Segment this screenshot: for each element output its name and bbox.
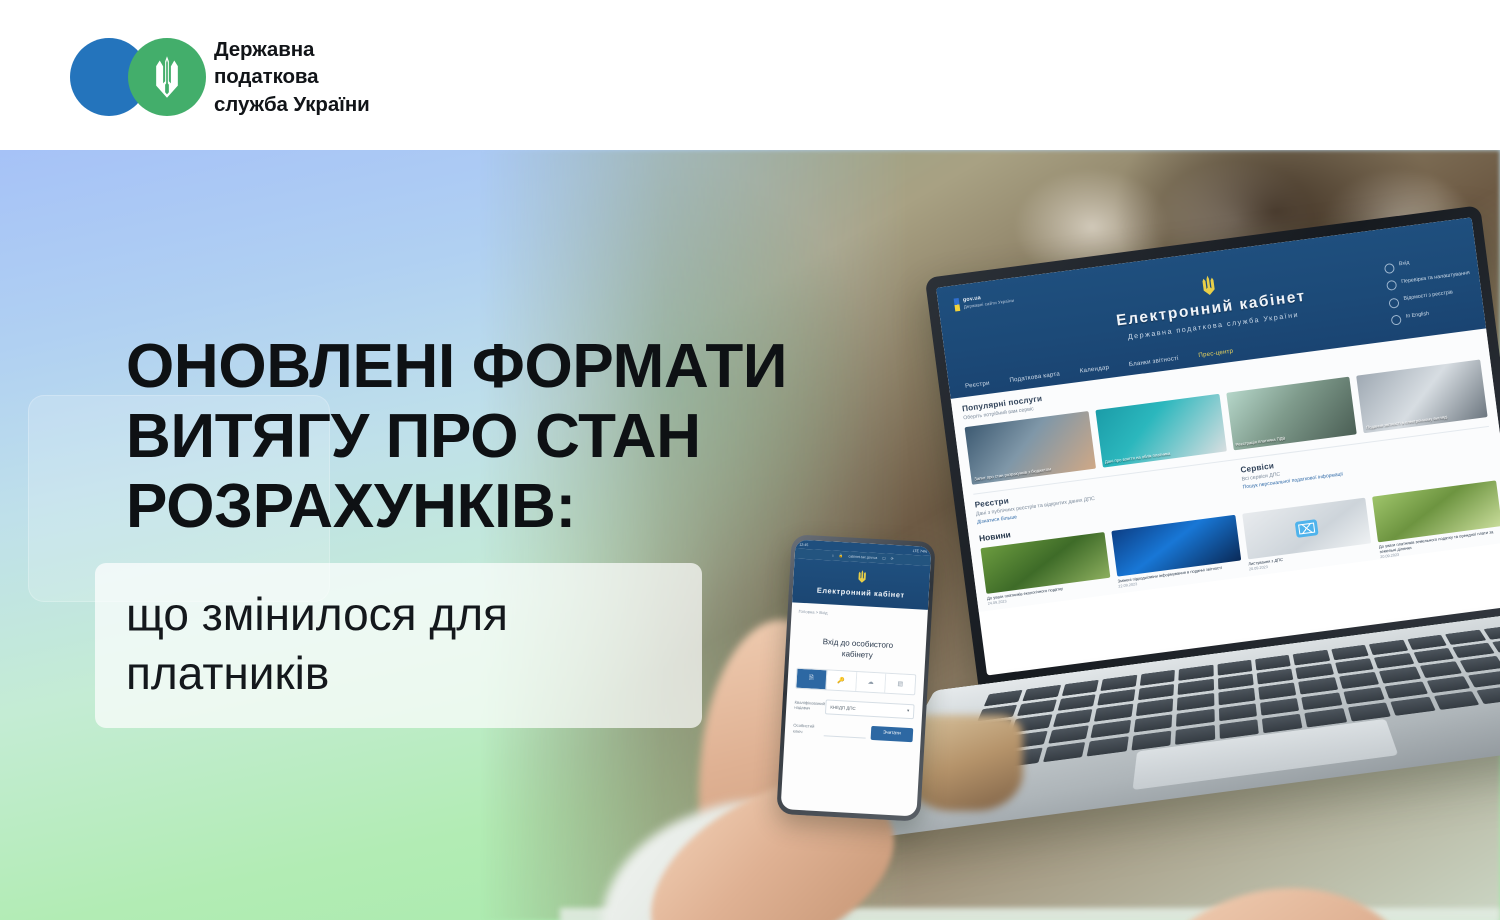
ek-rightnav-settings-label: Перевірка та налаштування (1401, 270, 1470, 286)
ek-rightnav-language[interactable]: In English (1391, 304, 1476, 325)
card-icon (1388, 297, 1399, 308)
chevron-down-icon: ▾ (907, 708, 910, 714)
password-input[interactable] (824, 723, 867, 738)
key[interactable] (1374, 653, 1414, 669)
phone-device: 12:45 LTE 74% ⌂ 🔒 cabinet.tax.gov.ua ▢ ⟳ (776, 534, 935, 822)
news-item[interactable]: Змінені підходиізміни інформування в под… (1111, 515, 1243, 594)
user-icon (1384, 262, 1395, 273)
home-icon[interactable]: ⌂ (832, 553, 834, 557)
key[interactable] (1053, 709, 1093, 727)
news-item[interactable]: Листування з ДПС 20.09.2023 (1242, 497, 1374, 576)
key[interactable] (1133, 714, 1172, 733)
auth-method-tabs[interactable]: 🗎 🔑 ☁ ▤ (795, 667, 916, 695)
phone-frame: 12:45 LTE 74% ⌂ 🔒 cabinet.tax.gov.ua ▢ ⟳ (776, 534, 935, 822)
key[interactable] (1178, 679, 1214, 696)
phone-screen: 12:45 LTE 74% ⌂ 🔒 cabinet.tax.gov.ua ▢ ⟳ (781, 539, 932, 816)
key[interactable] (1176, 709, 1214, 727)
login-heading-line-2: кабінету (842, 649, 873, 660)
ek-rightnav-login-label: Вхід (1399, 260, 1410, 268)
dps-logo[interactable]: Державна податкова служба України (70, 36, 370, 118)
key[interactable] (1138, 684, 1175, 701)
key[interactable] (1339, 672, 1379, 689)
headline-line-1: ОНОВЛЕНІ ФОРМАТИ (126, 332, 916, 402)
key[interactable] (1218, 673, 1254, 689)
key[interactable] (1468, 670, 1500, 687)
service-card[interactable]: Запит про стан розрахунків з бюджетом (965, 411, 1096, 485)
key[interactable] (1218, 688, 1255, 705)
key[interactable] (1413, 648, 1454, 664)
key[interactable] (1348, 703, 1391, 722)
headline-line-3: РОЗРАХУНКІВ: (126, 472, 916, 542)
service-card-caption: Дані про взяття на облік платника (1105, 444, 1223, 465)
key[interactable] (1258, 683, 1296, 700)
login-heading-line-1: Вхід до особистого (822, 637, 893, 650)
key[interactable] (1452, 642, 1494, 658)
key[interactable] (1302, 692, 1343, 710)
key[interactable] (1296, 663, 1334, 679)
auth-tab-id-card[interactable]: ▤ (885, 673, 915, 694)
phone-site-header: Електронний кабінет (792, 558, 930, 610)
ek-right-navigation[interactable]: Вхід Перевірка та налаштування Відомості… (1384, 252, 1475, 325)
key[interactable] (1299, 677, 1338, 694)
service-card[interactable]: Подання звітності в електронному вигляді (1356, 359, 1487, 433)
key[interactable] (1335, 658, 1374, 674)
key[interactable] (1426, 676, 1470, 694)
lock-icon: 🔒 (839, 554, 844, 558)
key[interactable] (1136, 698, 1174, 716)
globe-icon (1391, 314, 1402, 325)
subtitle-line-1: що змінилося для (126, 585, 686, 644)
laptop-lid: gov.ua Державні сайти України Електронни… (925, 205, 1500, 690)
key[interactable] (1483, 625, 1500, 640)
ek-nav-press[interactable]: Прес-центр (1198, 348, 1234, 360)
service-card-caption: Реєстрація платника ПДВ (1235, 426, 1353, 447)
auth-tab-usb-key[interactable]: 🔑 (826, 670, 857, 691)
status-indicators: LTE 74% (913, 548, 928, 553)
logo-text-line-3: служба України (214, 93, 370, 116)
ek-rightnav-language-label: In English (1405, 310, 1429, 320)
ek-nav-calendar[interactable]: Календар (1079, 364, 1109, 375)
key[interactable] (1048, 725, 1089, 744)
provider-value: КНЕДП ДПС (830, 704, 856, 710)
url-text[interactable]: cabinet.tax.gov.ua (848, 554, 877, 560)
service-card-caption: Запит про стан розрахунків з бюджетом (974, 461, 1092, 482)
ek-nav-registers[interactable]: Реєстри (965, 380, 990, 390)
key[interactable] (1391, 697, 1436, 716)
key[interactable] (1477, 686, 1500, 704)
ek-nav-taxmap[interactable]: Податкова карта (1009, 370, 1060, 384)
service-card-caption: Подання звітності в електронному вигляді (1366, 409, 1484, 430)
tabs-icon[interactable]: ▢ (882, 556, 886, 560)
ek-nav-forms[interactable]: Бланки звітності (1129, 355, 1180, 368)
trident-icon (856, 569, 868, 585)
service-card[interactable]: Реєстрація платника ПДВ (1226, 377, 1357, 451)
logo-marks (70, 38, 200, 116)
headline-line-2: ВИТЯГУ ПРО СТАН (126, 402, 916, 472)
reload-icon[interactable]: ⟳ (891, 557, 894, 561)
brand-header: Державна податкова служба України (0, 0, 1500, 150)
page-subtitle: що змінилося для платників (126, 585, 686, 703)
phone-site-title: Електронний кабінет (793, 584, 929, 601)
key[interactable] (1087, 737, 1128, 757)
ek-rightnav-registers-label: Відомості з реєстрів (1403, 289, 1453, 302)
auth-tab-cloud-key[interactable]: ☁ (856, 672, 887, 693)
key[interactable] (1420, 661, 1462, 678)
logo-text: Державна податкова служба України (214, 36, 370, 118)
key[interactable] (1343, 687, 1385, 705)
key[interactable] (1379, 667, 1420, 684)
key[interactable] (1094, 704, 1133, 722)
status-time: 12:45 (799, 542, 808, 546)
news-item[interactable]: До уваги платників екологічного податку … (980, 532, 1112, 611)
key[interactable] (1385, 681, 1428, 699)
password-field[interactable]: Особистий ключ Зчитати (793, 721, 914, 742)
key[interactable] (1043, 742, 1086, 762)
page-headline: ОНОВЛЕНІ ФОРМАТИ ВИТЯГУ ПРО СТАН РОЗРАХУ… (126, 332, 916, 542)
mail-icon (1295, 519, 1319, 538)
key[interactable] (1091, 720, 1131, 739)
provider-select[interactable]: КНЕДП ДПС ▾ (825, 699, 915, 719)
service-card[interactable]: Дані про взяття на облік платника (1095, 394, 1226, 468)
key[interactable] (1460, 656, 1500, 673)
key[interactable] (1218, 703, 1257, 721)
trident-icon (1198, 273, 1218, 298)
subtitle-line-2: платників (126, 644, 686, 703)
provider-field[interactable]: Кваліфікований надавач КНЕДП ДПС ▾ (794, 697, 915, 719)
key[interactable] (1257, 668, 1294, 684)
provider-label: Кваліфікований надавач (794, 699, 821, 711)
password-label: Особистий ключ (793, 723, 820, 735)
auth-tab-file-key[interactable]: 🗎 (796, 668, 827, 689)
laptop-screen: gov.ua Державні сайти України Електронни… (936, 217, 1500, 675)
trident-icon (150, 55, 184, 99)
logo-text-line-2: податкова (214, 65, 318, 88)
key[interactable] (1260, 698, 1300, 716)
gear-icon (1386, 280, 1397, 291)
key[interactable] (1434, 691, 1480, 710)
poster-page: gov.ua Державні сайти України Електронни… (0, 0, 1500, 920)
key[interactable] (1177, 693, 1214, 710)
news-item[interactable]: До уваги платників земельного податку та… (1372, 480, 1500, 559)
login-heading: Вхід до особистого кабінету (789, 635, 926, 664)
submit-button[interactable]: Зчитати (871, 726, 914, 742)
logo-text-line-1: Державна (214, 38, 314, 61)
